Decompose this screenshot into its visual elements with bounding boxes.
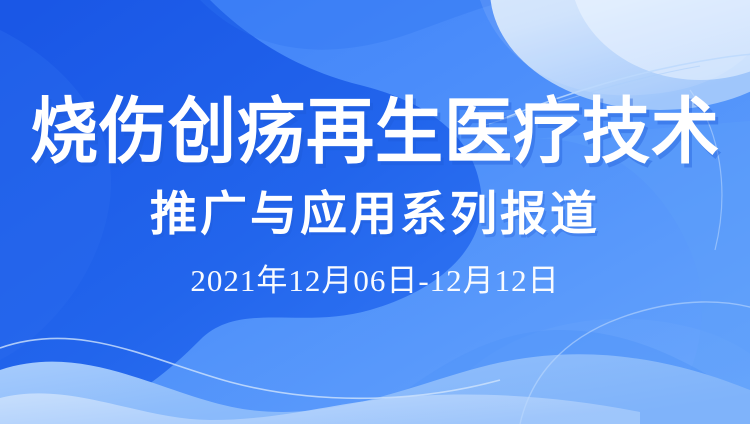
banner-title-main: 烧伤创疡再生医疗技术 [30, 96, 720, 168]
promo-banner: 烧伤创疡再生医疗技术 推广与应用系列报道 2021年12月06日-12月12日 [0, 0, 750, 424]
banner-text-stack: 烧伤创疡再生医疗技术 推广与应用系列报道 2021年12月06日-12月12日 [0, 0, 750, 424]
banner-date-range: 2021年12月06日-12月12日 [190, 265, 559, 296]
banner-title-sub: 推广与应用系列报道 [150, 190, 600, 237]
